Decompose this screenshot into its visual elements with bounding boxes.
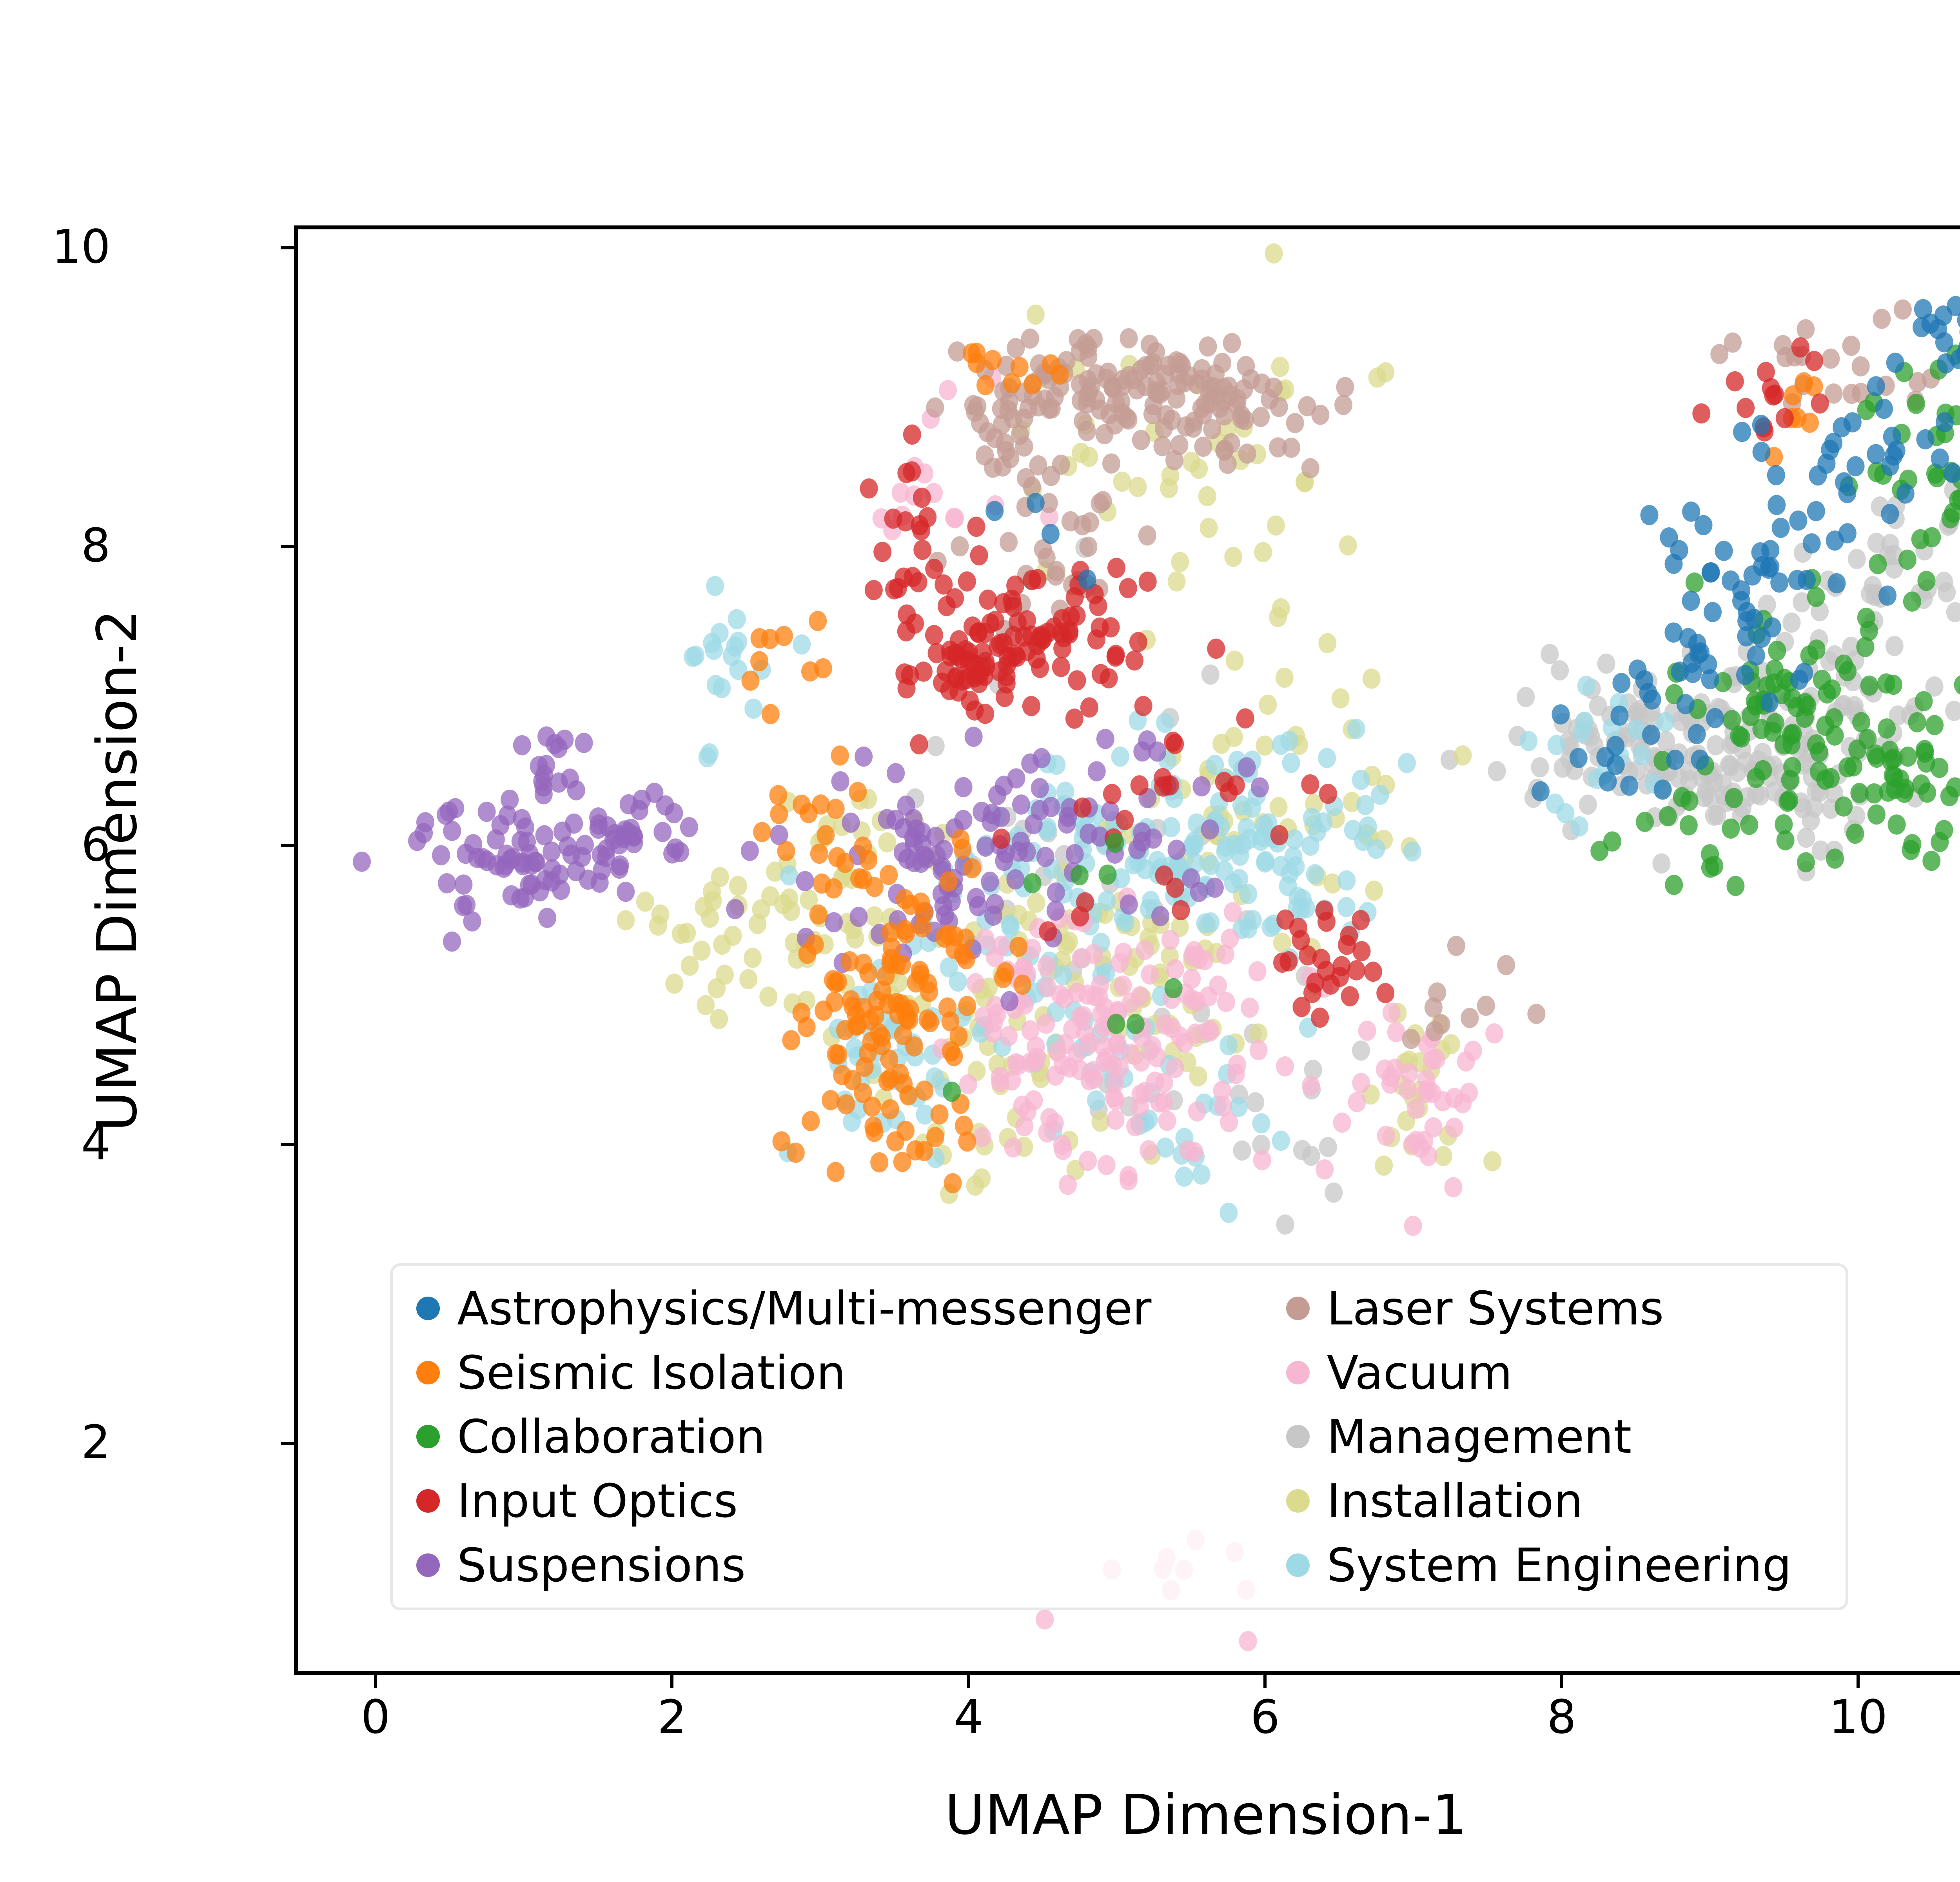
legend-entry[interactable]: Collaboration (406, 1405, 1276, 1469)
x-tick-mark (374, 1675, 377, 1688)
legend-label: Collaboration (457, 1413, 765, 1460)
umap-scatter-figure: 0246810246810 UMAP Dimension-1 UMAP Dime… (0, 0, 1960, 1882)
y-tick-mark (281, 1442, 294, 1445)
legend-label: System Engineering (1327, 1542, 1792, 1588)
legend-column-2: Laser SystemsVacuumManagementInstallatio… (1276, 1276, 1832, 1597)
x-tick-label: 2 (593, 1694, 750, 1740)
legend-entry[interactable]: Vacuum (1276, 1341, 1832, 1405)
legend-entry[interactable]: Suspensions (406, 1533, 1276, 1597)
legend-marker-icon (416, 1425, 440, 1448)
x-tick-label: 0 (297, 1694, 454, 1740)
legend-marker-icon (1286, 1553, 1310, 1577)
legend-entry[interactable]: Laser Systems (1276, 1276, 1832, 1341)
x-tick-mark (1857, 1675, 1860, 1688)
x-axis-label: UMAP Dimension-1 (294, 1788, 1960, 1843)
legend-label: Installation (1327, 1478, 1583, 1524)
legend-entry[interactable]: System Engineering (1276, 1533, 1832, 1597)
y-axis-label: UMAP Dimension-2 (90, 86, 145, 1655)
x-tick-label: 10 (1780, 1694, 1936, 1740)
legend-label: Input Optics (457, 1478, 738, 1524)
legend-label: Management (1327, 1413, 1632, 1460)
legend-entry[interactable]: Management (1276, 1405, 1832, 1469)
legend-marker-icon (1286, 1425, 1310, 1448)
legend-marker-icon (416, 1553, 440, 1577)
legend-marker-icon (1286, 1361, 1310, 1384)
legend-label: Astrophysics/Multi-messenger (457, 1285, 1151, 1332)
legend-label: Laser Systems (1327, 1285, 1664, 1332)
x-tick-mark (967, 1675, 970, 1688)
legend-entry[interactable]: Input Optics (406, 1469, 1276, 1533)
legend-label: Vacuum (1327, 1350, 1512, 1396)
legend-marker-icon (1286, 1489, 1310, 1513)
legend-label: Seismic Isolation (457, 1350, 846, 1396)
series-system-engineering (684, 576, 1674, 1223)
x-tick-label: 4 (890, 1694, 1047, 1740)
legend-column-1: Astrophysics/Multi-messengerSeismic Isol… (406, 1276, 1276, 1597)
legend-entry[interactable]: Astrophysics/Multi-messenger (406, 1276, 1276, 1341)
legend-marker-icon (416, 1489, 440, 1513)
legend: Astrophysics/Multi-messengerSeismic Isol… (390, 1263, 1848, 1610)
x-tick-label: 6 (1187, 1694, 1343, 1740)
y-tick-mark (281, 844, 294, 847)
x-tick-label: 8 (1483, 1694, 1640, 1740)
y-tick-mark (281, 1143, 294, 1146)
legend-marker-icon (416, 1297, 440, 1320)
legend-entry[interactable]: Seismic Isolation (406, 1341, 1276, 1405)
y-tick-mark (281, 545, 294, 548)
y-tick-mark (281, 246, 294, 249)
legend-entry[interactable]: Installation (1276, 1469, 1832, 1533)
legend-marker-icon (416, 1361, 440, 1384)
legend-marker-icon (1286, 1297, 1310, 1320)
x-tick-mark (670, 1675, 673, 1688)
x-tick-mark (1560, 1675, 1563, 1688)
x-tick-mark (1263, 1675, 1267, 1688)
legend-label: Suspensions (457, 1542, 746, 1588)
